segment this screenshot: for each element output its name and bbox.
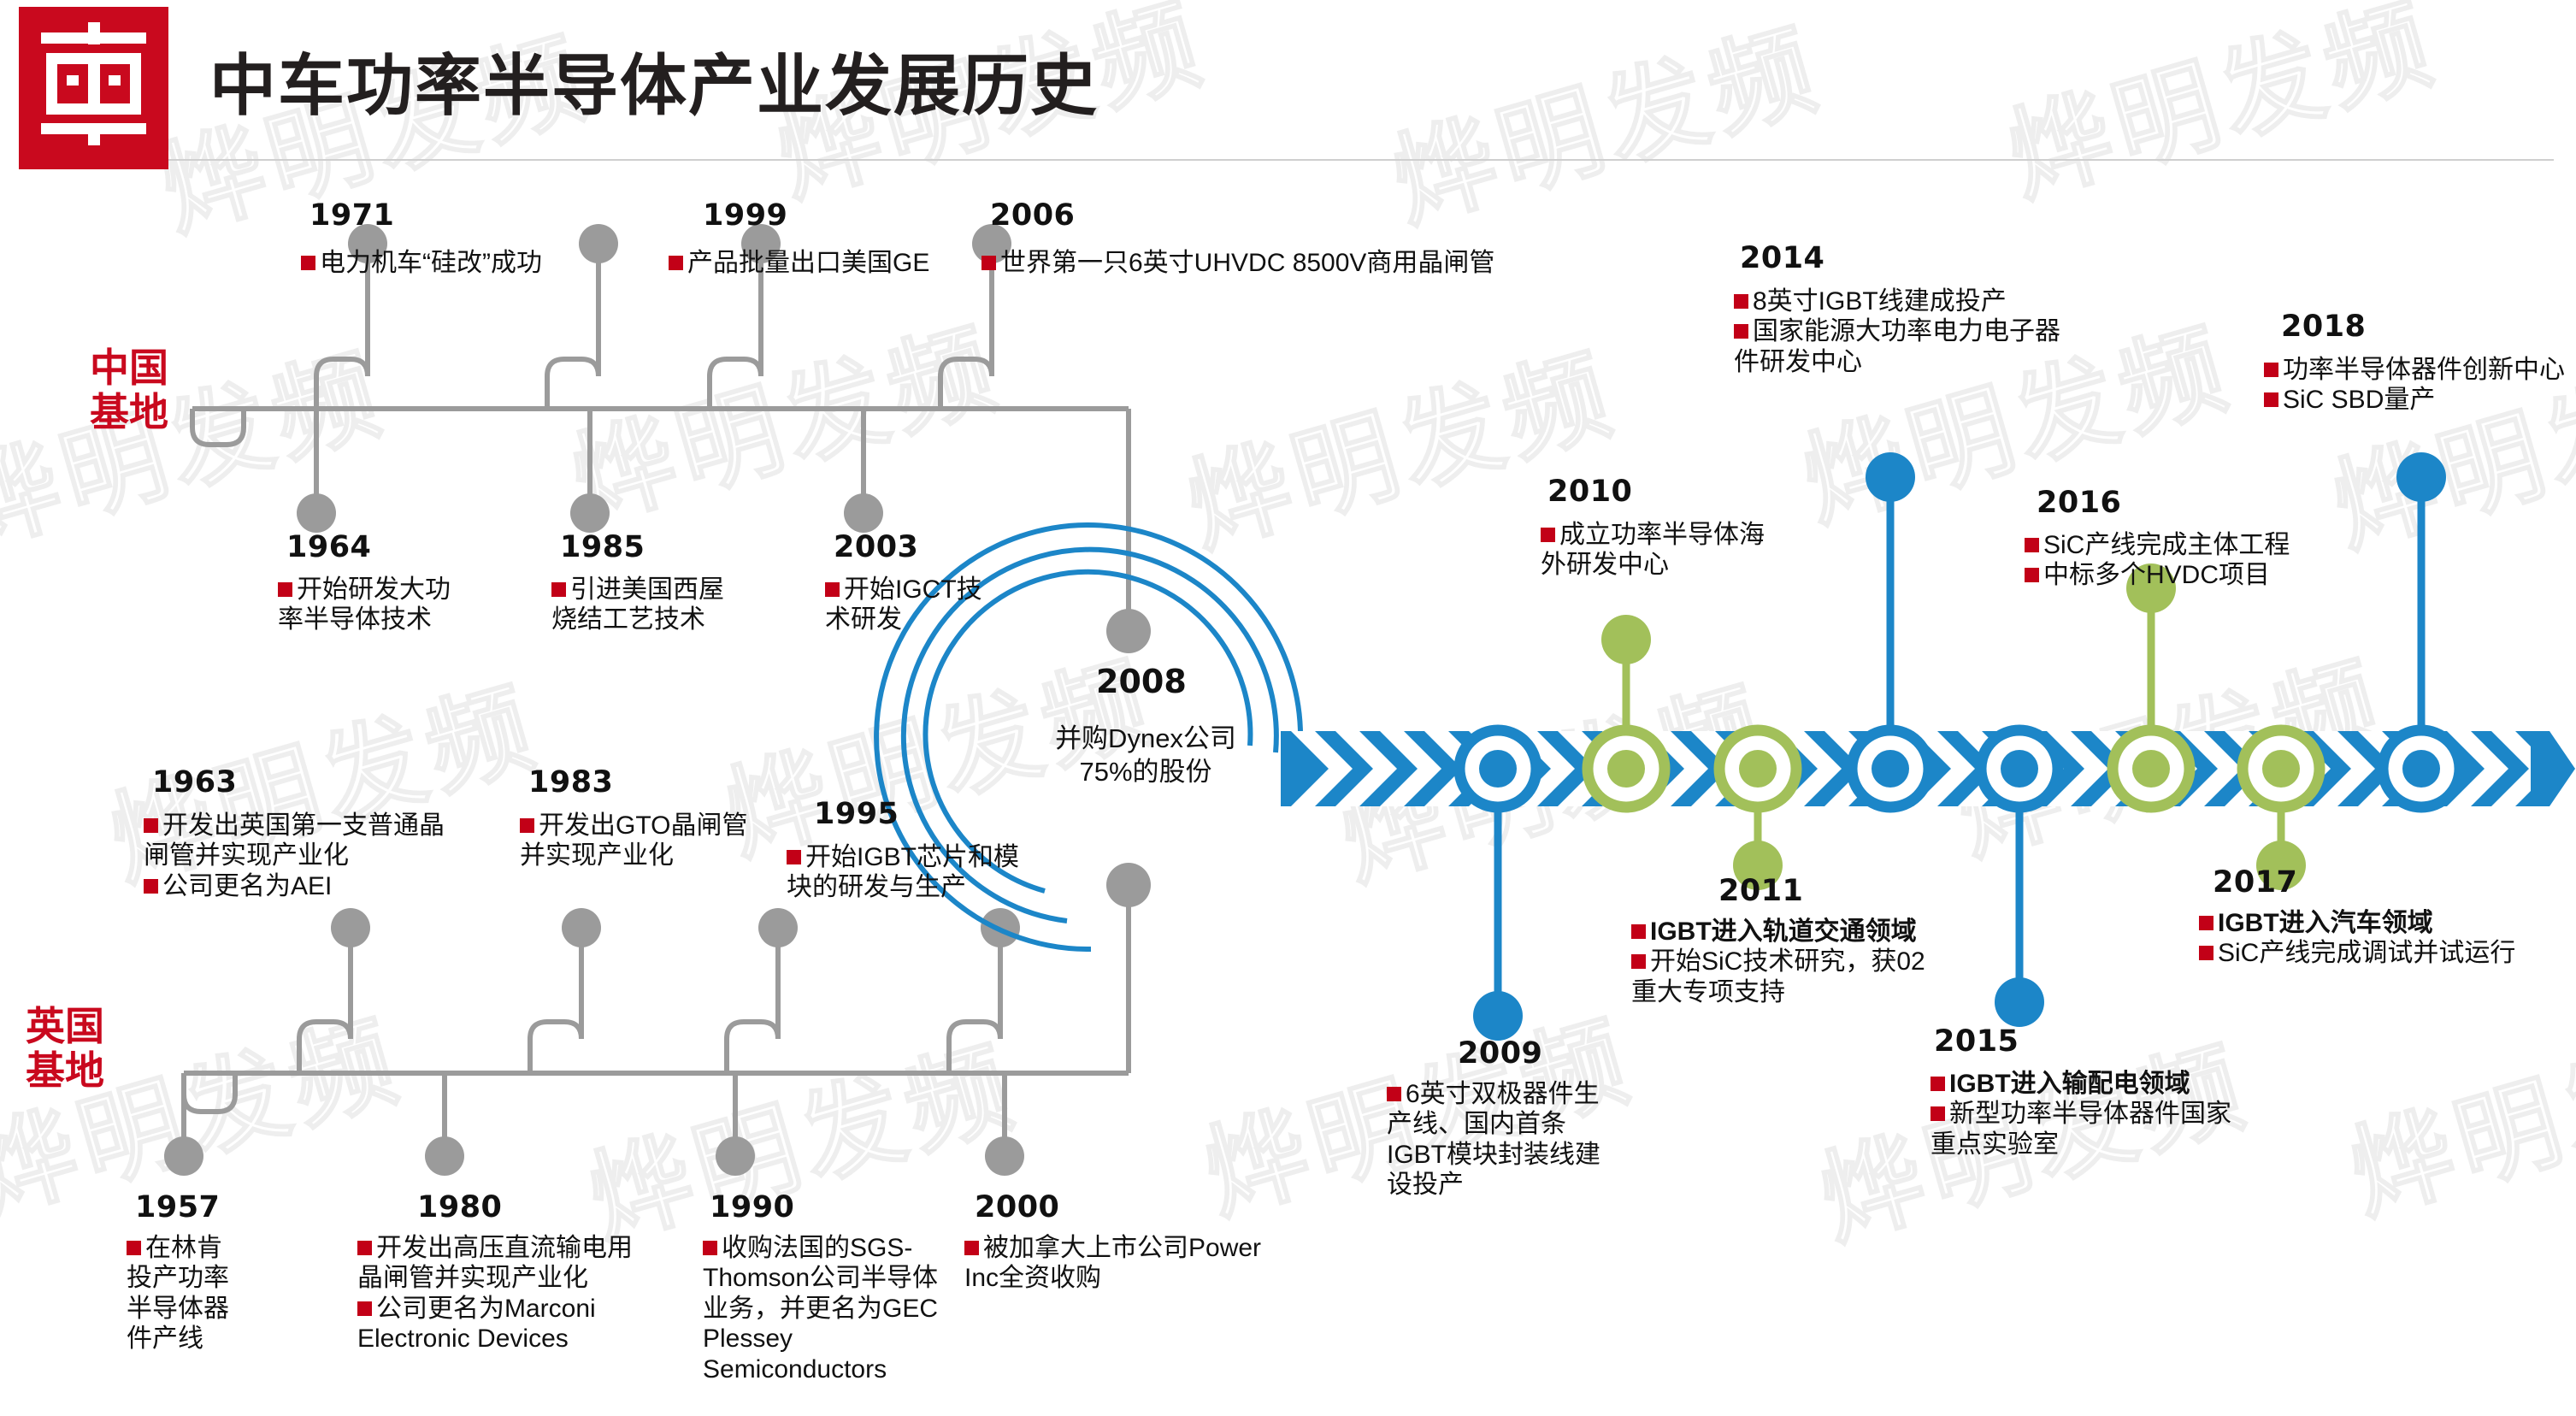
bullet-item-cont: 率半导体技术 [278, 605, 534, 634]
event-text-1964: 开始研发大功 率半导体技术 [278, 575, 534, 635]
bullet-item: 开发出英国第一支普通晶 [144, 811, 520, 841]
event-text-2015: IGBT进入输配电领域 新型功率半导体器件国家 重点实验室 [1931, 1069, 2290, 1159]
bullet-square-icon [825, 582, 840, 597]
bullet-item-cont: 晶闸管并实现产业化 [357, 1263, 734, 1293]
bullet-item-cont: 件产线 [127, 1324, 315, 1354]
bullet-square-icon [357, 1241, 372, 1255]
bullet-item: 被加拿大上市公司Power [964, 1233, 1375, 1263]
bullet-square-icon [981, 256, 996, 270]
bullet-item: 开始SiC技术研究，获02 [1631, 947, 1990, 976]
event-text-1995: 开始IGBT芯片和模 块的研发与生产 [787, 842, 1094, 903]
base-label-china: 中国 基地 [90, 346, 168, 434]
year-label-2011: 2011 [1718, 874, 1803, 908]
year-label-1990: 1990 [710, 1190, 794, 1224]
bullet-square-icon [703, 1241, 717, 1255]
bullet-item-cont: 块的研发与生产 [787, 872, 1094, 902]
bullet-item: 引进美国西屋 [551, 575, 808, 605]
base-label-uk-line1: 英国 [26, 1005, 104, 1049]
page-title: 中车功率半导体产业发展历史 [209, 32, 1099, 128]
bullet-item-cont: Electronic Devices [357, 1324, 734, 1354]
event-text-2011: IGBT进入轨道交通领域 开始SiC技术研究，获02 重大专项支持 [1631, 917, 1990, 1007]
crrc-logo [19, 7, 168, 169]
bullet-square-icon [1734, 294, 1748, 309]
bullet-item: SiC产线完成调试并试运行 [2199, 938, 2575, 968]
bullet-item-cont: 外研发中心 [1541, 550, 1831, 580]
bullet-square-icon [2264, 363, 2278, 377]
event-text-1957: 在林肯 投产功率 半导体器 件产线 [127, 1233, 315, 1354]
bullet-item-cont: 重大专项支持 [1631, 977, 1990, 1007]
bullet-item: 开始研发大功 [278, 575, 534, 605]
event-text-1983: 开发出GTO晶闸管 并实现产业化 [520, 811, 828, 871]
bullet-item: 成立功率半导体海 [1541, 520, 1831, 550]
bullet-square-icon [1931, 1077, 1945, 1091]
year-label-2000: 2000 [975, 1190, 1059, 1224]
base-label-uk-line2: 基地 [26, 1049, 104, 1094]
bullet-square-icon [1734, 324, 1748, 339]
year-label-1983: 1983 [528, 765, 613, 799]
year-label-2015: 2015 [1934, 1024, 2019, 1059]
year-label-1971: 1971 [309, 198, 394, 233]
event-text-2010: 成立功率半导体海 外研发中心 [1541, 520, 1831, 581]
year-label-1964: 1964 [286, 530, 371, 564]
bullet-item: 世界第一只6英寸UHVDC 8500V商用晶闸管 [981, 248, 1751, 278]
bullet-item: 开发出高压直流输电用 [357, 1233, 734, 1263]
bullet-square-icon [2264, 392, 2278, 407]
event-text-1963: 开发出英国第一支普通晶 闸管并实现产业化 公司更名为AEI [144, 811, 520, 901]
event-text-2006: 世界第一只6英寸UHVDC 8500V商用晶闸管 [981, 248, 1751, 278]
bullet-item: SiC产线完成主体工程 [2025, 530, 2409, 560]
bullet-square-icon [1541, 528, 1555, 542]
event-text-1980: 开发出高压直流输电用 晶闸管并实现产业化 公司更名为Marconi Electr… [357, 1233, 734, 1354]
bullet-item: 国家能源大功率电力电子器 [1734, 316, 2144, 346]
bullet-item-cont: 重点实验室 [1931, 1130, 2290, 1159]
bullet-item: 8英寸IGBT线建成投产 [1734, 286, 2144, 316]
uk-node-dots [164, 908, 1024, 1176]
event-text-2017: IGBT进入汽车领域 SiC产线完成调试并试运行 [2199, 908, 2575, 969]
year-label-2014: 2014 [1740, 241, 1824, 275]
bullet-item: 功率半导体器件创新中心 [2264, 355, 2576, 385]
event-text-1985: 引进美国西屋 烧结工艺技术 [551, 575, 808, 635]
bullet-item: 公司更名为Marconi [357, 1294, 734, 1324]
bullet-item: 6英寸双极器件生 [1387, 1079, 1660, 1109]
base-label-china-line2: 基地 [90, 391, 168, 435]
bullet-item-cont: 设投产 [1387, 1170, 1660, 1200]
bullet-item-cont: 投产功率 [127, 1263, 315, 1293]
bullet-square-icon [301, 256, 315, 270]
bullet-item-cont: Inc全资收购 [964, 1263, 1375, 1293]
event-text-2003: 开始IGCT技 术研发 [825, 575, 1064, 635]
bullet-item-cont: 件研发中心 [1734, 347, 2144, 377]
bullet-square-icon [1387, 1087, 1401, 1101]
bullet-square-icon [1631, 954, 1646, 969]
bullet-square-icon [787, 850, 801, 864]
bullet-square-icon [144, 879, 158, 894]
bullet-square-icon [2199, 916, 2213, 930]
year-label-1957: 1957 [135, 1190, 220, 1224]
event-marker-2018 [2383, 452, 2460, 807]
bullet-square-icon [144, 818, 158, 833]
year-label-1985: 1985 [560, 530, 645, 564]
bullet-item: 在林肯 [127, 1233, 315, 1263]
crrc-logo-icon [19, 7, 168, 169]
year-label-1995: 1995 [814, 797, 899, 831]
bullet-square-icon [1931, 1106, 1945, 1121]
bullet-item-cont: 闸管并实现产业化 [144, 841, 520, 870]
bullet-square-icon [2199, 946, 2213, 960]
year-label-2010: 2010 [1547, 475, 1632, 509]
bullet-item: 电力机车“硅改”成功 [301, 248, 660, 278]
event-2008-line2: 75%的股份 [1022, 756, 1270, 789]
year-label-2016: 2016 [2037, 486, 2121, 520]
event-marker-2011 [1719, 730, 1796, 890]
bullet-item: IGBT进入输配电领域 [1931, 1069, 2290, 1099]
bullet-square-icon [127, 1241, 141, 1255]
uk-connector-lines [184, 906, 1129, 1146]
bullet-item: 开始IGCT技 [825, 575, 1064, 605]
bullet-item: 新型功率半导体器件国家 [1931, 1099, 2290, 1129]
event-text-1999: 产品批量出口美国GE [669, 248, 1011, 278]
event-text-2014: 8英寸IGBT线建成投产 国家能源大功率电力电子器 件研发中心 [1734, 286, 2144, 377]
year-label-2017: 2017 [2213, 865, 2297, 900]
event-text-2018: 功率半导体器件创新中心 SiC SBD量产 [2264, 355, 2576, 416]
bullet-item: 中标多个HVDC项目 [2025, 560, 2409, 590]
event-text-1971: 电力机车“硅改”成功 [301, 248, 660, 278]
year-label-2003: 2003 [834, 530, 918, 564]
event-text-2016: SiC产线完成主体工程 中标多个HVDC项目 [2025, 530, 2409, 591]
year-label-1963: 1963 [152, 765, 237, 799]
base-label-china-line1: 中国 [90, 346, 168, 391]
year-label-2006: 2006 [990, 198, 1075, 233]
bullet-square-icon [357, 1301, 372, 1316]
event-2008-line1: 并购Dynex公司 [1022, 723, 1270, 756]
page-header: 中车功率半导体产业发展历史 [0, 0, 2576, 171]
bullet-square-icon [964, 1241, 979, 1255]
event-marker-2015 [1981, 730, 2058, 1027]
event-marker-2009 [1459, 730, 1536, 1041]
header-divider [168, 159, 2554, 161]
bullet-item: 开始IGBT芯片和模 [787, 842, 1094, 872]
event-text-2008: 并购Dynex公司 75%的股份 [1022, 723, 1270, 789]
event-marker-2010 [1588, 615, 1665, 807]
bullet-item-cont: Semiconductors [703, 1354, 1028, 1384]
bullet-item-cont: 产线、国内首条 [1387, 1109, 1660, 1139]
event-text-2009: 6英寸双极器件生 产线、国内首条 IGBT模块封装线建 设投产 [1387, 1079, 1660, 1201]
year-label-1999: 1999 [703, 198, 787, 233]
bullet-item-cont: IGBT模块封装线建 [1387, 1140, 1660, 1170]
year-label-2008: 2008 [1096, 663, 1187, 700]
bullet-item: IGBT进入轨道交通领域 [1631, 917, 1990, 947]
bullet-item-cont: 术研发 [825, 605, 1064, 634]
bullet-square-icon [520, 818, 534, 833]
bullet-item: 产品批量出口美国GE [669, 248, 1011, 278]
bullet-item-cont: 半导体器 [127, 1294, 315, 1324]
base-label-uk: 英国 基地 [26, 1005, 104, 1093]
bullet-square-icon [1631, 924, 1646, 939]
bullet-item: IGBT进入汽车领域 [2199, 908, 2575, 938]
bullet-square-icon [669, 256, 683, 270]
event-text-2000: 被加拿大上市公司Power Inc全资收购 [964, 1233, 1375, 1294]
bullet-item: SiC SBD量产 [2264, 385, 2576, 415]
bullet-square-icon [551, 582, 566, 597]
infographic-canvas: 烨明发频 烨明发频 烨明发频 烨明发频 烨明发频 烨明发频 烨明发频 烨明发频 … [0, 0, 2576, 1416]
bullet-item-cont: Plessey [703, 1324, 1028, 1354]
event-marker-2016 [2113, 563, 2190, 807]
bullet-square-icon [278, 582, 292, 597]
year-label-2018: 2018 [2281, 310, 2366, 344]
bullet-item-cont: 业务，并更名为GEC [703, 1294, 1028, 1324]
bullet-item: 公司更名为AEI [144, 871, 520, 901]
bullet-item-cont: 烧结工艺技术 [551, 605, 808, 634]
year-label-1980: 1980 [417, 1190, 502, 1224]
bullet-item: 开发出GTO晶闸管 [520, 811, 828, 841]
year-label-2009: 2009 [1458, 1036, 1542, 1071]
bullet-item-cont: 并实现产业化 [520, 841, 828, 870]
event-marker-2014 [1852, 452, 1929, 807]
bullet-square-icon [2025, 538, 2039, 552]
bullet-square-icon [2025, 568, 2039, 582]
